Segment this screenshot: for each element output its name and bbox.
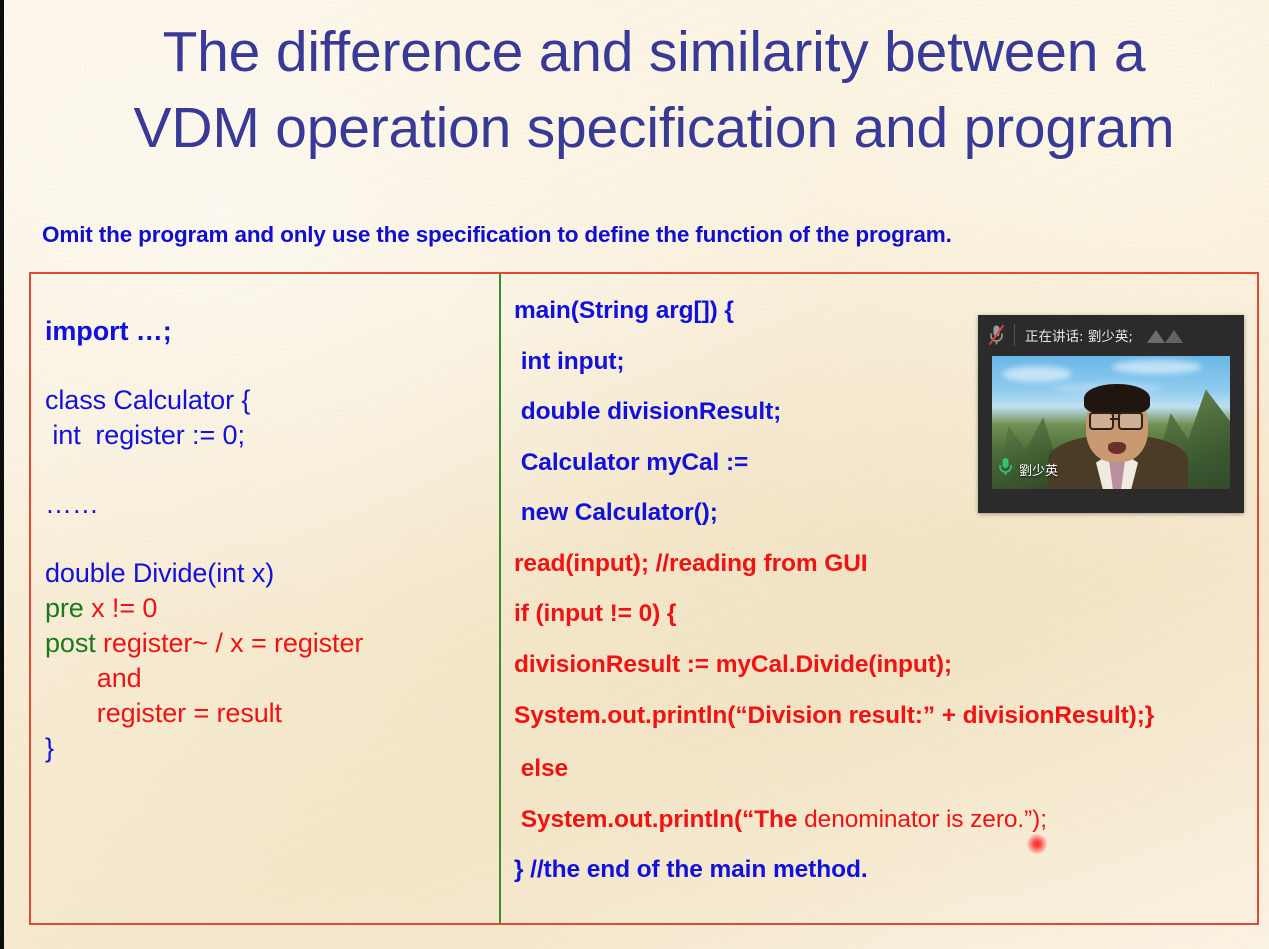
code-line: and xyxy=(45,661,485,696)
active-speaker-label: 正在讲话: 劉少英; xyxy=(1025,325,1133,345)
microphone-muted-icon[interactable] xyxy=(978,315,1014,355)
code-line: int register := 0; xyxy=(45,418,485,453)
page-title: The difference and similarity between a … xyxy=(64,14,1244,166)
println-normal-part: denominator is zero.”); xyxy=(804,806,1047,833)
code-line: import …; xyxy=(45,314,485,349)
eyeglasses-left-lens xyxy=(1089,412,1114,430)
code-line: double Divide(int x) xyxy=(45,556,485,591)
zoom-logo-icon xyxy=(1145,326,1191,344)
spacer xyxy=(45,453,485,487)
column-divider xyxy=(499,274,501,923)
title-line-1: The difference and similarity between a xyxy=(64,14,1244,90)
code-line: register = result xyxy=(45,696,485,731)
println-bold-part: System.out.println(“The xyxy=(514,806,804,833)
code-line: } //the end of the main method. xyxy=(514,845,1259,896)
participant-hair xyxy=(1084,384,1150,414)
eyeglasses-bridge xyxy=(1110,418,1118,420)
pre-condition: x != 0 xyxy=(84,593,158,623)
code-line-pre: pre x != 0 xyxy=(45,591,485,626)
code-line-post: post register~ / x = register xyxy=(45,626,485,661)
left-code-column: import …; class Calculator { int registe… xyxy=(45,314,485,766)
spacer xyxy=(45,349,485,383)
title-line-2: VDM operation specification and program xyxy=(64,90,1244,166)
code-line-println-else: System.out.println(“The denominator is z… xyxy=(514,795,1259,846)
cloud-decoration xyxy=(1112,360,1202,374)
microphone-active-icon xyxy=(998,457,1013,481)
cloud-decoration xyxy=(1002,366,1072,382)
post-condition: register~ / x = register xyxy=(96,628,364,658)
code-line: System.out.println(“Division result:” + … xyxy=(514,699,1259,733)
zoom-video-tile[interactable]: 正在讲话: 劉少英; xyxy=(978,315,1244,513)
code-line: if (input != 0) { xyxy=(514,589,1259,640)
code-line: read(input); //reading from GUI xyxy=(514,539,1259,590)
code-line: } xyxy=(45,731,485,766)
participant-name: 劉少英 xyxy=(1019,460,1058,479)
code-line-ellipsis: …… xyxy=(45,487,485,522)
participant-mouth xyxy=(1108,442,1126,454)
eyeglasses-right-lens xyxy=(1118,412,1143,430)
video-header-bar: 正在讲话: 劉少英; xyxy=(978,315,1244,355)
code-line: class Calculator { xyxy=(45,383,485,418)
header-divider xyxy=(1014,324,1015,346)
keyword-pre: pre xyxy=(45,593,84,623)
spacer xyxy=(45,522,485,556)
participant-name-badge: 劉少英 xyxy=(998,457,1058,481)
code-line: divisionResult := myCal.Divide(input); xyxy=(514,640,1259,691)
subtitle-text: Omit the program and only use the specif… xyxy=(42,222,952,248)
keyword-post: post xyxy=(45,628,96,658)
presentation-slide: The difference and similarity between a … xyxy=(4,0,1269,949)
code-line: else xyxy=(514,744,1259,795)
video-feed: 劉少英 xyxy=(992,356,1230,489)
